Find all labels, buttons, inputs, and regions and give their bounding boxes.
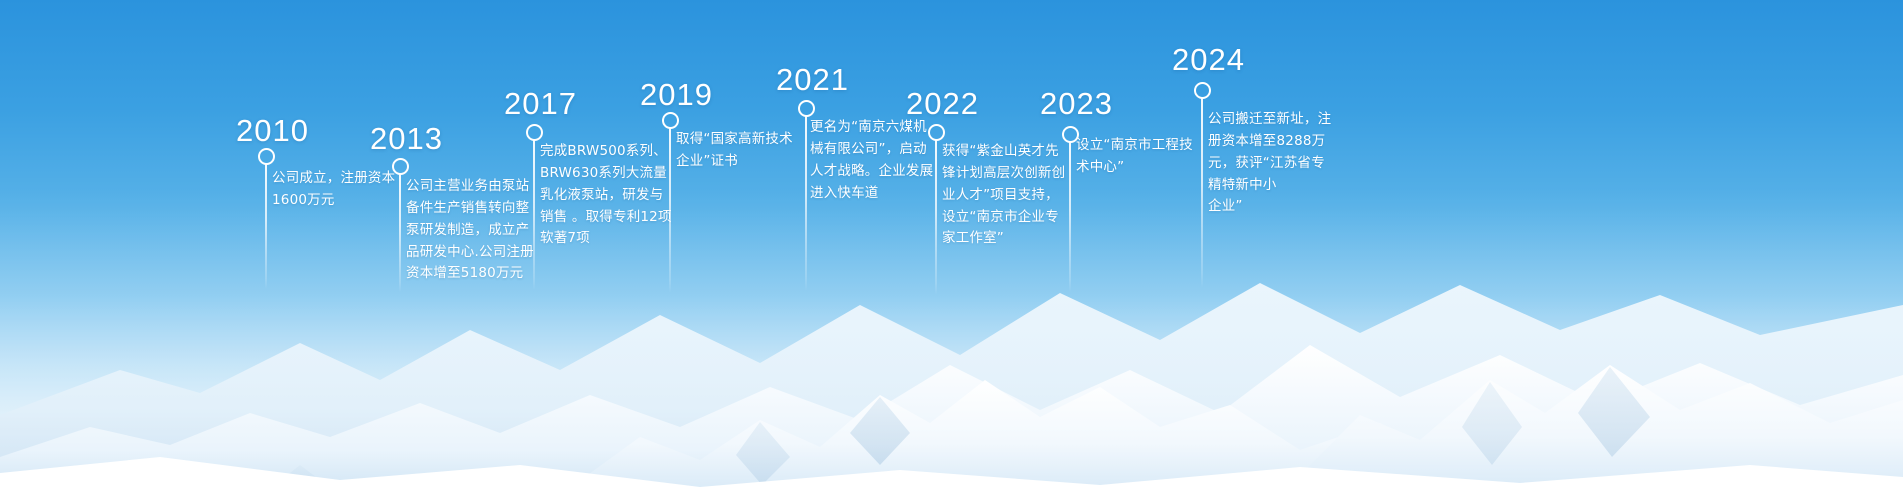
timeline-stem-line xyxy=(533,140,535,290)
timeline-track: 2010公司成立，注册资本 1600万元2013公司主营业务由泵站 备件生产销售… xyxy=(0,0,1903,495)
timeline-stem-line xyxy=(399,174,401,292)
timeline-year-label: 2019 xyxy=(640,79,713,110)
timeline-stem-line xyxy=(805,116,807,291)
timeline-description: 公司搬迁至新址，注 册资本增至8288万 元，获评“江苏省专 精特新中小 企业” xyxy=(1208,109,1360,218)
timeline-description: 设立“南京市工程技 术中心” xyxy=(1076,135,1228,179)
timeline-stem-line xyxy=(1201,98,1203,288)
timeline-description: 取得“国家高新技术 企业”证书 xyxy=(676,129,826,173)
timeline-year-label: 2021 xyxy=(776,64,849,95)
timeline-year-label: 2024 xyxy=(1172,44,1245,75)
timeline-description: 公司成立，注册资本 1600万元 xyxy=(272,168,417,212)
timeline-infographic: 2010公司成立，注册资本 1600万元2013公司主营业务由泵站 备件生产销售… xyxy=(0,0,1903,495)
timeline-description: 获得“紫金山英才先 锋计划高层次创新创 业人才”项目支持， 设立“南京市企业专 … xyxy=(942,141,1094,250)
timeline-marker-dot-icon[interactable] xyxy=(526,124,543,141)
timeline-marker-dot-icon[interactable] xyxy=(1194,82,1211,99)
timeline-year-label: 2022 xyxy=(906,88,979,119)
timeline-marker-dot-icon[interactable] xyxy=(798,100,815,117)
timeline-stem-line xyxy=(935,140,937,295)
timeline-marker-dot-icon[interactable] xyxy=(662,112,679,129)
timeline-year-label: 2017 xyxy=(504,88,577,119)
timeline-year-label: 2010 xyxy=(236,115,309,146)
timeline-stem-line xyxy=(669,128,671,293)
timeline-marker-dot-icon[interactable] xyxy=(928,124,945,141)
timeline-year-label: 2023 xyxy=(1040,88,1113,119)
timeline-stem-line xyxy=(265,164,267,289)
timeline-description: 完成BRW500系列、 BRW630系列大流量 乳化液泵站，研发与 销售 。取得… xyxy=(540,141,695,250)
timeline-marker-dot-icon[interactable] xyxy=(258,148,275,165)
timeline-year-label: 2013 xyxy=(370,123,443,154)
timeline-stem-line xyxy=(1069,142,1071,292)
timeline-marker-dot-icon[interactable] xyxy=(392,158,409,175)
